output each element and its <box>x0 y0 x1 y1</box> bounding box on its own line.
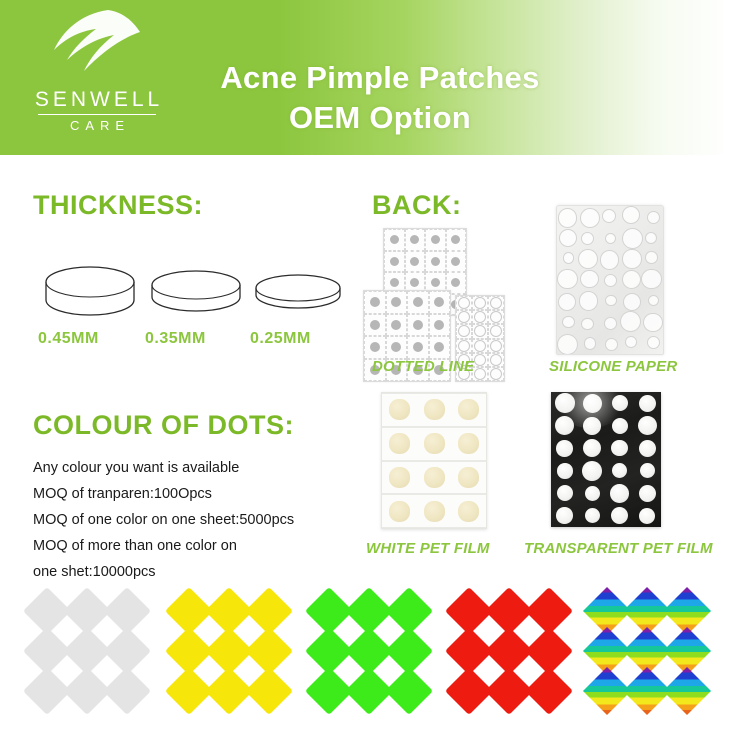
dot-swatch-red <box>525 667 573 715</box>
transparent-dot <box>612 463 627 478</box>
silicone-dot <box>563 252 575 264</box>
transparent-dot <box>583 417 601 435</box>
patch-outline <box>490 354 502 366</box>
patch-cell <box>384 229 405 251</box>
transparent-dot <box>555 416 574 435</box>
hydrocolloid-dot <box>389 433 410 454</box>
hydrocolloid-dot <box>458 467 479 488</box>
colour-line-2: MOQ of tranparen:100Opcs <box>33 481 363 507</box>
patch-outline <box>458 325 470 337</box>
patch-dot <box>410 257 419 266</box>
colour-line-5: one shet:10000pcs <box>33 559 363 585</box>
patch-dot <box>390 257 399 266</box>
swatch-yellow <box>170 592 290 702</box>
transparent-pet-film-image <box>551 392 661 527</box>
patch-dot <box>431 235 440 244</box>
heading-thickness: THICKNESS: <box>33 190 203 221</box>
patch-cell <box>425 251 446 273</box>
patch-cell <box>472 339 488 353</box>
swatch-green <box>310 592 430 702</box>
patch-cell <box>386 314 408 337</box>
patch-dot <box>434 342 444 352</box>
patch-dot <box>431 257 440 266</box>
transparent-dot <box>557 463 573 479</box>
heading-colour-of-dots: COLOUR OF DOTS: <box>33 410 294 441</box>
infographic-page: SENWELL CARE Acne Pimple Patches OEM Opt… <box>0 0 730 730</box>
hydrocolloid-dot <box>458 399 479 420</box>
swatch-red <box>450 592 570 702</box>
patch-cell <box>488 367 504 381</box>
silicone-dot <box>623 293 641 311</box>
silicone-dot <box>578 249 598 269</box>
silicone-dot <box>620 311 642 333</box>
hydrocolloid-dot <box>458 433 479 454</box>
transparent-dot <box>638 416 657 435</box>
hydrocolloid-dot <box>424 501 445 522</box>
patch-cell <box>429 291 451 314</box>
transparent-dot <box>639 440 656 457</box>
patch-cell <box>364 291 386 314</box>
patch-outline <box>474 340 486 352</box>
patch-dot <box>410 235 419 244</box>
heading-back: BACK: <box>372 190 462 221</box>
patch-cell <box>386 291 408 314</box>
patch-cell <box>472 310 488 324</box>
patch-outline <box>474 368 486 380</box>
patch-cell <box>446 229 467 251</box>
patch-cell <box>429 314 451 337</box>
patch-cell <box>405 229 426 251</box>
patch-dot <box>451 235 460 244</box>
leaf-flame-logo-icon <box>40 8 152 88</box>
hydrocolloid-dot <box>389 467 410 488</box>
colour-line-3: MOQ of one color on one sheet:5000pcs <box>33 507 363 533</box>
silicone-dot <box>605 295 617 307</box>
transparent-dot <box>639 395 656 412</box>
patch-dot <box>370 342 380 352</box>
silicone-dot <box>584 337 597 350</box>
page-title-line1: Acne Pimple Patches <box>220 60 539 95</box>
silicone-dot <box>605 338 618 351</box>
silicone-dot <box>645 251 658 264</box>
patch-dot <box>391 320 401 330</box>
cylinder-0.35mm <box>148 268 244 331</box>
transparent-dot <box>611 440 628 457</box>
thickness-label-3: 0.25MM <box>250 330 311 348</box>
patch-dot <box>434 320 444 330</box>
patch-cell <box>364 336 386 359</box>
transparent-dot <box>557 485 573 501</box>
patch-dot <box>431 278 440 287</box>
silicone-dot <box>604 274 618 288</box>
patch-dot <box>370 320 380 330</box>
dot-swatch-green <box>385 667 433 715</box>
patch-dot <box>390 278 399 287</box>
patch-outline <box>474 311 486 323</box>
patch-cell <box>488 310 504 324</box>
page-title: Acne Pimple Patches OEM Option <box>150 58 610 138</box>
patch-cell <box>407 314 429 337</box>
silicone-dot <box>557 269 577 289</box>
transparent-dot <box>612 395 628 411</box>
silicone-dot <box>579 291 599 311</box>
dot-swatch-clear <box>103 667 151 715</box>
patch-cell <box>456 310 472 324</box>
patch-cell <box>429 336 451 359</box>
patch-outline <box>458 311 470 323</box>
transparent-dot <box>583 439 601 457</box>
silicone-dot <box>605 233 616 244</box>
transparent-dot <box>639 485 656 502</box>
silicone-dot <box>581 318 593 330</box>
caption-transparent-pet-film: TRANSPARENT PET FILM <box>524 540 713 557</box>
thickness-label-2: 0.35MM <box>145 330 206 348</box>
silicone-dot <box>562 316 574 328</box>
transparent-dot <box>556 440 573 457</box>
hydrocolloid-dot <box>424 433 445 454</box>
swatch-clear <box>28 592 148 702</box>
silicone-dot <box>581 232 595 246</box>
patch-outline <box>458 297 470 309</box>
patch-outline <box>474 325 486 337</box>
patch-outline <box>490 297 502 309</box>
hydrocolloid-dot <box>389 399 410 420</box>
patch-cell <box>472 353 488 367</box>
patch-cell <box>456 324 472 338</box>
patch-cell <box>472 324 488 338</box>
cylinder-0.45mm <box>42 264 138 331</box>
swatch-rainbow <box>588 592 708 702</box>
patch-outline <box>474 297 486 309</box>
colour-description-list: Any colour you want is availableMOQ of t… <box>33 455 363 585</box>
patch-outline <box>490 340 502 352</box>
silicone-paper-image <box>556 205 664 355</box>
silicone-dot <box>641 269 662 290</box>
patch-cell <box>407 336 429 359</box>
patch-cell <box>386 336 408 359</box>
transparent-dot <box>610 484 629 503</box>
patch-cell <box>446 251 467 273</box>
patch-cell <box>425 229 446 251</box>
silicone-dot <box>625 336 637 348</box>
thickness-label-1: 0.45MM <box>38 330 99 348</box>
colour-line-4: MOQ of more than one color on <box>33 533 363 559</box>
silicone-dot <box>600 250 620 270</box>
patch-cell <box>488 296 504 310</box>
patch-cell <box>364 314 386 337</box>
patch-cell <box>456 339 472 353</box>
silicone-dot <box>647 336 660 349</box>
hydrocolloid-dot <box>458 501 479 522</box>
silicone-dot <box>580 208 600 228</box>
patch-outline <box>490 325 502 337</box>
patch-dot <box>451 257 460 266</box>
silicone-dot <box>604 317 617 330</box>
silicone-dot <box>643 313 663 333</box>
brand-divider <box>38 114 156 115</box>
patch-dot <box>413 297 423 307</box>
patch-cell <box>488 353 504 367</box>
patch-dot <box>413 320 423 330</box>
patch-dot <box>370 297 380 307</box>
transparent-dot <box>639 508 655 524</box>
silicone-dot <box>645 232 657 244</box>
cylinder-0.25mm <box>252 272 344 329</box>
patch-dot <box>413 342 423 352</box>
silicone-dot <box>557 334 578 355</box>
patch-outline <box>490 311 502 323</box>
page-title-line2: OEM Option <box>150 98 610 138</box>
patch-dot <box>391 297 401 307</box>
transparent-dot <box>612 418 628 434</box>
patch-cell <box>472 296 488 310</box>
dot-swatch-yellow <box>245 667 293 715</box>
patch-dot <box>434 297 444 307</box>
silicone-dot <box>622 206 640 224</box>
patch-outline <box>458 340 470 352</box>
silicone-dot <box>602 209 616 223</box>
hydrocolloid-dot <box>424 399 445 420</box>
patch-dot <box>410 278 419 287</box>
patch-cell <box>488 339 504 353</box>
silicone-dot <box>622 249 641 268</box>
colour-line-1: Any colour you want is available <box>33 455 363 481</box>
header-banner: SENWELL CARE Acne Pimple Patches OEM Opt… <box>0 0 730 155</box>
transparent-dot <box>611 507 628 524</box>
transparent-dot <box>582 461 602 481</box>
patch-cell <box>472 367 488 381</box>
patch-cell <box>456 296 472 310</box>
hydrocolloid-dot <box>389 501 410 522</box>
patch-dot <box>390 235 399 244</box>
transparent-dot <box>585 508 600 523</box>
patch-cell <box>405 251 426 273</box>
silicone-dot <box>558 208 577 227</box>
patch-cell <box>407 291 429 314</box>
dot-swatch-rainbow <box>663 667 711 715</box>
patch-cell <box>384 251 405 273</box>
transparent-dot <box>640 463 655 478</box>
caption-white-pet-film: WHITE PET FILM <box>366 540 490 557</box>
caption-dotted-line: DOTTED LINE <box>372 358 474 375</box>
transparent-dot <box>556 507 573 524</box>
patch-cell <box>488 324 504 338</box>
patch-outline <box>490 368 502 380</box>
hydrocolloid-dot <box>424 467 445 488</box>
silicone-dot <box>648 295 660 307</box>
patch-dot <box>391 342 401 352</box>
silicone-dot <box>647 211 660 224</box>
transparent-dot <box>585 486 600 501</box>
transparent-dot <box>583 394 602 413</box>
transparent-dot <box>555 393 575 413</box>
silicone-dot <box>558 293 576 311</box>
patch-outline <box>474 354 486 366</box>
silicone-dot <box>580 270 598 288</box>
silicone-dot <box>559 229 577 247</box>
white-pet-film-image <box>381 392 487 529</box>
silicone-dot <box>622 228 643 249</box>
caption-silicone-paper: SILICONE PAPER <box>549 358 677 375</box>
silicone-dot <box>622 270 641 289</box>
patch-dot <box>451 278 460 287</box>
